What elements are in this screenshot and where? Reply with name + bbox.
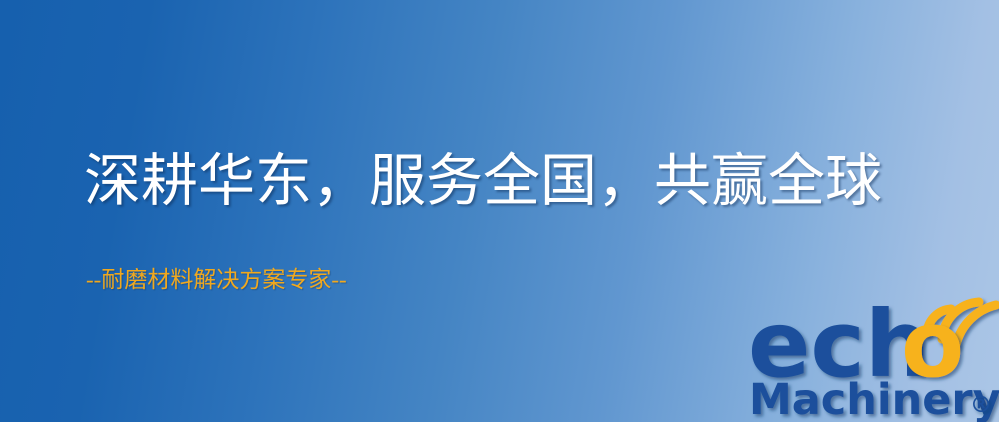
registered-trademark-icon: ®: [970, 393, 992, 418]
echo-machinery-logo: ech o Machinery ®: [746, 296, 999, 422]
logo-tagline: Machinery: [749, 375, 999, 422]
banner-headline: 深耕华东，服务全国，共赢全球: [84, 152, 882, 212]
banner-subtitle: --耐磨材料解决方案专家--: [86, 266, 347, 294]
promo-banner: 深耕华东，服务全国，共赢全球 --耐磨材料解决方案专家-- ech o Mach…: [0, 0, 999, 422]
